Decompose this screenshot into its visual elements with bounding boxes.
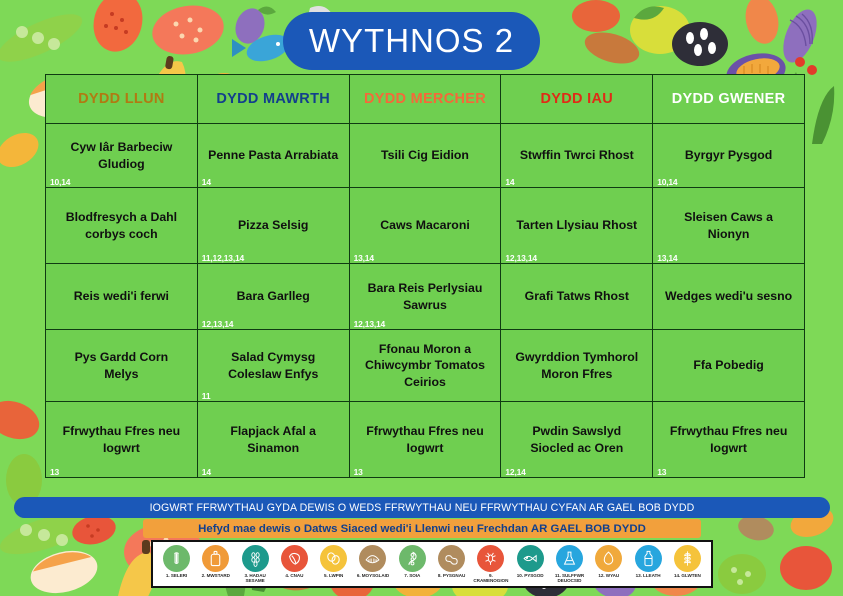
allergen-codes: 11,12,13,14 [202, 254, 244, 263]
column-header-tuesday: DYDD MAWRTH [197, 75, 349, 124]
dish-name: Ffrwythau Ffres neu Iogwrt [52, 406, 191, 473]
banner-blue-text: IOGWRT FFRWYTHAU GYDA DEWIS O WEDS FFRWY… [150, 502, 695, 514]
crustaceans-icon [477, 545, 504, 572]
gluten-icon [674, 545, 701, 572]
allergen-label: 10. PYSGOD [517, 573, 544, 578]
allergen-item-mustard: 2. MWSTARD [196, 545, 235, 578]
column-header-monday: DYDD LLUN [46, 75, 198, 124]
allergen-codes: 13 [354, 468, 363, 477]
menu-cell: Ffrwythau Ffres neu Iogwrt13 [653, 402, 805, 478]
dish-name: Reis wedi'i ferwi [52, 268, 191, 325]
celery-icon [163, 545, 190, 572]
menu-cell: Cyw Iâr Barbeciw Gludiog10,14 [46, 124, 198, 188]
allergen-item-peanuts: 8. PYSGNAU [432, 545, 471, 578]
nuts-icon [281, 545, 308, 572]
allergen-label: 11. SULFFWR DEUOCSID [550, 573, 589, 584]
allergen-item-crustaceans: 9. CRAMENOGION [471, 545, 510, 584]
dish-name: Bara Reis Perlysiau Sawrus [356, 268, 495, 325]
menu-cell: Bara Reis Perlysiau Sawrus12,13,14 [349, 264, 501, 330]
menu-cell: Pwdin Sawslyd Siocled ac Oren12,14 [501, 402, 653, 478]
dish-name: Byrgyr Pysgod [659, 128, 798, 183]
soya-icon [399, 545, 426, 572]
column-header-thursday: DYDD IAU [501, 75, 653, 124]
allergen-item-lupin: 5. LWPIN [314, 545, 353, 578]
menu-cell: Bara Garlleg12,13,14 [197, 264, 349, 330]
dish-name: Bara Garlleg [204, 268, 343, 325]
menu-cell: Gwyrddion Tymhorol Moron Ffres [501, 330, 653, 402]
menu-cell: Flapjack Afal a Sinamon14 [197, 402, 349, 478]
dish-name: Tarten Llysiau Rhost [507, 192, 646, 259]
dish-name: Wedges wedi'u sesno [659, 268, 798, 325]
dish-name: Ffrwythau Ffres neu Iogwrt [659, 406, 798, 473]
fish-icon [517, 545, 544, 572]
allergen-codes: 10,14 [657, 178, 677, 187]
allergen-label: 13. LLEATH [636, 573, 661, 578]
menu-cell: Wedges wedi'u sesno [653, 264, 805, 330]
menu-cell: Ffrwythau Ffres neu Iogwrt13 [46, 402, 198, 478]
mustard-icon [202, 545, 229, 572]
allergen-codes: 13,14 [354, 254, 374, 263]
menu-cell: Byrgyr Pysgod10,14 [653, 124, 805, 188]
dish-name: Sleisen Caws a Nionyn [659, 192, 798, 259]
allergen-codes: 13 [50, 468, 59, 477]
menu-cell: Caws Macaroni13,14 [349, 188, 501, 264]
menu-cell: Tsili Cig Eidion [349, 124, 501, 188]
menu-cell: Sleisen Caws a Nionyn13,14 [653, 188, 805, 264]
allergen-label: 6. MOYSGLAID [357, 573, 389, 578]
menu-cell: Ffonau Moron a Chiwcymbr Tomatos Ceirios [349, 330, 501, 402]
allergen-item-molluscs: 6. MOYSGLAID [353, 545, 392, 578]
sesame-icon [242, 545, 269, 572]
lupin-icon [320, 545, 347, 572]
egg-icon [595, 545, 622, 572]
column-header-wednesday: DYDD MERCHER [349, 75, 501, 124]
menu-cell: Grafi Tatws Rhost [501, 264, 653, 330]
allergen-item-nuts: 4. CNAU [275, 545, 314, 578]
allergen-label: 4. CNAU [285, 573, 303, 578]
allergen-codes: 14 [202, 468, 211, 477]
allergen-label: 9. CRAMENOGION [471, 573, 510, 584]
menu-cell: Salad Cymysg Coleslaw Enfys11 [197, 330, 349, 402]
allergen-codes: 13 [657, 468, 666, 477]
column-header-friday: DYDD GWENER [653, 75, 805, 124]
allergen-item-milk: 13. LLEATH [629, 545, 668, 578]
dish-name: Ffrwythau Ffres neu Iogwrt [356, 406, 495, 473]
dish-name: Tsili Cig Eidion [356, 128, 495, 183]
allergen-codes: 11 [202, 392, 211, 401]
allergen-codes: 10,14 [50, 178, 70, 187]
allergen-label: 2. MWSTARD [202, 573, 230, 578]
allergen-label: 1. SELERI [166, 573, 187, 578]
dish-name: Ffonau Moron a Chiwcymbr Tomatos Ceirios [356, 334, 495, 397]
milk-icon [635, 545, 662, 572]
table-row: Pys Gardd Corn Melys Salad Cymysg Colesl… [46, 330, 805, 402]
allergen-item-gluten: 14. GLWTEN [668, 545, 707, 578]
allergen-item-soya: 7. SOIA [393, 545, 432, 578]
allergen-label: 8. PYSGNAU [438, 573, 465, 578]
allergen-item-celery: 1. SELERI [157, 545, 196, 578]
table-row: Ffrwythau Ffres neu Iogwrt13 Flapjack Af… [46, 402, 805, 478]
dish-name: Salad Cymysg Coleslaw Enfys [204, 334, 343, 397]
dish-name: Pizza Selsig [204, 192, 343, 259]
banner-orange-text: Hefyd mae dewis o Datws Siaced wedi'i Ll… [198, 523, 646, 535]
dish-name: Blodfresych a Dahl corbys coch [52, 192, 191, 259]
allergen-codes: 12,14 [505, 468, 525, 477]
menu-cell: Ffa Pobedig [653, 330, 805, 402]
allergen-key-legend: 1. SELERI 2. MWSTARD 3. HADAU SESAME 4. … [151, 540, 713, 588]
allergen-item-fish: 10. PYSGOD [511, 545, 550, 578]
allergen-item-eggs: 12. WYAU [589, 545, 628, 578]
menu-cell: Pys Gardd Corn Melys [46, 330, 198, 402]
menu-cell: Ffrwythau Ffres neu Iogwrt13 [349, 402, 501, 478]
dish-name: Pwdin Sawslyd Siocled ac Oren [507, 406, 646, 473]
allergen-label: 5. LWPIN [324, 573, 343, 578]
dish-name: Ffa Pobedig [659, 334, 798, 397]
menu-cell: Pizza Selsig11,12,13,14 [197, 188, 349, 264]
dish-name: Stwffin Twrci Rhost [507, 128, 646, 183]
weekly-menu-table: DYDD LLUN DYDD MAWRTH DYDD MERCHER DYDD … [45, 74, 805, 478]
allergen-codes: 14 [505, 178, 514, 187]
table-row: Reis wedi'i ferwi Bara Garlleg12,13,14 B… [46, 264, 805, 330]
allergen-codes: 14 [202, 178, 211, 187]
peanuts-icon [438, 545, 465, 572]
allergen-codes: 12,13,14 [202, 320, 234, 329]
allergen-item-sesame: 3. HADAU SESAME [236, 545, 275, 584]
dish-name: Cyw Iâr Barbeciw Gludiog [52, 128, 191, 183]
table-header-row: DYDD LLUN DYDD MAWRTH DYDD MERCHER DYDD … [46, 75, 805, 124]
menu-cell: Tarten Llysiau Rhost12,13,14 [501, 188, 653, 264]
dish-name: Penne Pasta Arrabiata [204, 128, 343, 183]
table-row: Cyw Iâr Barbeciw Gludiog10,14 Penne Past… [46, 124, 805, 188]
menu-cell: Stwffin Twrci Rhost14 [501, 124, 653, 188]
menu-cell: Reis wedi'i ferwi [46, 264, 198, 330]
yogurt-fruit-banner: IOGWRT FFRWYTHAU GYDA DEWIS O WEDS FFRWY… [14, 497, 830, 518]
page-title: WYTHNOS 2 [309, 22, 514, 60]
allergen-label: 12. WYAU [598, 573, 619, 578]
allergen-codes: 12,13,14 [354, 320, 386, 329]
jacket-potato-banner: Hefyd mae dewis o Datws Siaced wedi'i Ll… [143, 519, 701, 538]
week-title-pill: WYTHNOS 2 [283, 12, 540, 70]
dish-name: Grafi Tatws Rhost [507, 268, 646, 325]
molluscs-icon [359, 545, 386, 572]
allergen-label: 7. SOIA [404, 573, 420, 578]
menu-cell: Blodfresych a Dahl corbys coch [46, 188, 198, 264]
dish-name: Pys Gardd Corn Melys [52, 334, 191, 397]
allergen-codes: 13,14 [657, 254, 677, 263]
dish-name: Caws Macaroni [356, 192, 495, 259]
dish-name: Flapjack Afal a Sinamon [204, 406, 343, 473]
allergen-item-sulphur: 11. SULFFWR DEUOCSID [550, 545, 589, 584]
allergen-label: 3. HADAU SESAME [236, 573, 275, 584]
table-row: Blodfresych a Dahl corbys coch Pizza Sel… [46, 188, 805, 264]
dish-name: Gwyrddion Tymhorol Moron Ffres [507, 334, 646, 397]
allergen-codes: 12,13,14 [505, 254, 537, 263]
allergen-label: 14. GLWTEN [674, 573, 701, 578]
sulphur-icon [556, 545, 583, 572]
menu-cell: Penne Pasta Arrabiata14 [197, 124, 349, 188]
